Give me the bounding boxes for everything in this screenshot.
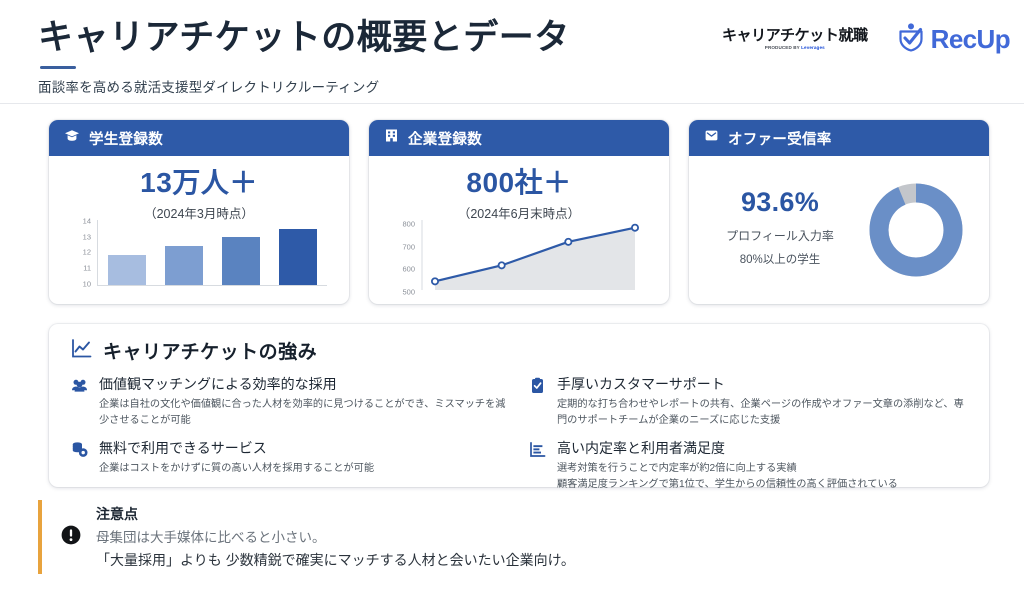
clipboard-check-icon	[529, 375, 546, 429]
bar	[165, 246, 203, 285]
stat-card-offer-rate: オファー受信率 93.6% プロフィール入力率 80%以上の学生	[689, 120, 989, 304]
caution-body: 注意点 母集団は大手媒体に比べると小さい。 「大量採用」よりも 少数精鋭で確実に…	[96, 504, 988, 570]
offer-rate-content: 93.6% プロフィール入力率 80%以上の学生	[689, 156, 989, 304]
strengths-panel: キャリアチケットの強み	[49, 324, 989, 487]
caution-line-2: 「大量採用」よりも 少数精鋭で確実にマッチする人材と会いたい企業向け。	[96, 550, 988, 570]
inbox-envelope-icon	[704, 128, 719, 148]
stat-card-body: 93.6% プロフィール入力率 80%以上の学生	[689, 156, 989, 304]
stat-card-body: 800社＋ （2024年6月末時点） 800 700 600 500	[369, 156, 669, 304]
strengths-columns: 価値観マッチングによる効率的な採用 企業は自社の文化や価値観に合った人材を効率的…	[71, 375, 967, 503]
y-tick: 12	[83, 249, 91, 257]
slide-header: キャリアチケットの概要とデータ 面談率を高める就活支援型ダイレクトリクルーティン…	[0, 0, 1024, 104]
y-tick: 14	[83, 217, 91, 225]
caution-callout: 注意点 母集団は大手媒体に比べると小さい。 「大量採用」よりも 少数精鋭で確実に…	[38, 500, 988, 574]
companies-line-chart: 800 700 600 500	[387, 218, 653, 298]
stat-card-row: 学生登録数 13万人＋ （2024年3月時点） 14 13 12 11 10	[49, 120, 989, 304]
strengths-title: キャリアチケットの強み	[103, 337, 317, 364]
careerticket-logo-producedby: PRODUCED BY Leverages	[765, 46, 825, 51]
page-title: キャリアチケットの概要とデータ	[38, 18, 570, 58]
stat-card-header: 学生登録数	[49, 120, 349, 156]
exclamation-circle-icon	[60, 524, 82, 551]
coins-money-icon	[71, 439, 88, 477]
stat-card-students: 学生登録数 13万人＋ （2024年3月時点） 14 13 12 11 10	[49, 120, 349, 304]
line-chart-point	[565, 239, 571, 245]
offer-rate-donut-chart	[857, 176, 975, 284]
strength-text: 高い内定率と利用者満足度 選考対策を行うことで内定率が約2倍に向上する実績 顧客…	[557, 439, 967, 493]
caution-line-1: 母集団は大手媒体に比べると小さい。	[96, 526, 988, 546]
page-subtitle: 面談率を高める就活支援型ダイレクトリクルーティング	[38, 76, 379, 96]
y-tick: 13	[83, 233, 91, 241]
strength-heading: 手厚いカスタマーサポート	[557, 375, 967, 393]
strength-heading: 高い内定率と利用者満足度	[557, 439, 967, 457]
strengths-column-right: 手厚いカスタマーサポート 定期的な打ち合わせやレポートの共有、企業ページの作成や…	[529, 375, 967, 503]
careerticket-logo-text: キャリアチケット就職	[722, 28, 868, 43]
y-tick: 500	[402, 288, 415, 296]
stat-card-label: 企業登録数	[408, 128, 482, 149]
strengths-column-left: 価値観マッチングによる効率的な採用 企業は自社の文化や価値観に合った人材を効率的…	[71, 375, 509, 503]
strength-detail: 企業はコストをかけずに質の高い人材を採用することが可能	[99, 461, 509, 477]
chart-line-icon	[71, 338, 92, 364]
bar-chart-plot	[97, 220, 327, 286]
stat-card-label: 学生登録数	[89, 128, 163, 149]
y-tick: 800	[402, 221, 415, 229]
bar-chart-y-axis: 14 13 12 11 10	[67, 218, 95, 296]
slide-root: キャリアチケットの概要とデータ 面談率を高める就活支援型ダイレクトリクルーティン…	[0, 0, 1024, 590]
stat-card-companies: 企業登録数 800社＋ （2024年6月末時点） 800 700 600 500	[369, 120, 669, 304]
strength-item: 手厚いカスタマーサポート 定期的な打ち合わせやレポートの共有、企業ページの作成や…	[529, 375, 967, 429]
header-divider	[0, 103, 1024, 104]
strength-item: 高い内定率と利用者満足度 選考対策を行うことで内定率が約2倍に向上する実績 顧客…	[529, 439, 967, 493]
strength-item: 無料で利用できるサービス 企業はコストをかけずに質の高い人材を採用することが可能	[71, 439, 509, 477]
line-chart-point	[432, 278, 438, 284]
strength-heading: 価値観マッチングによる効率的な採用	[99, 375, 509, 393]
stat-card-header: 企業登録数	[369, 120, 669, 156]
recup-logo-text: RecUp	[931, 24, 1010, 55]
y-tick: 10	[83, 280, 91, 288]
title-underline-rule	[40, 66, 76, 69]
y-tick: 11	[83, 264, 91, 272]
line-chart-plot	[421, 220, 647, 290]
stat-card-label: オファー受信率	[728, 128, 832, 149]
stat-value-students: 13万人＋	[49, 168, 349, 197]
stat-value-companies: 800社＋	[369, 168, 669, 197]
bar	[108, 255, 146, 285]
y-tick: 700	[402, 243, 415, 251]
building-icon	[384, 128, 399, 148]
caution-title: 注意点	[96, 504, 988, 524]
offer-rate-text-block: 93.6% プロフィール入力率 80%以上の学生	[703, 187, 857, 273]
recup-checkmark-icon	[896, 22, 926, 57]
bar	[222, 237, 260, 285]
stat-card-body: 13万人＋ （2024年3月時点） 14 13 12 11 10	[49, 156, 349, 304]
offer-rate-note-2: 80%以上の学生	[703, 251, 857, 267]
bar	[279, 229, 317, 285]
students-bar-chart: 14 13 12 11 10	[67, 218, 331, 296]
line-chart-point	[632, 225, 638, 231]
users-group-icon	[71, 375, 88, 429]
recup-logo: RecUp	[896, 22, 1010, 57]
strength-text: 価値観マッチングによる効率的な採用 企業は自社の文化や価値観に合った人材を効率的…	[99, 375, 509, 429]
y-tick: 600	[402, 265, 415, 273]
strength-detail: 企業は自社の文化や価値観に合った人材を効率的に見つけることができ、ミスマッチを減…	[99, 397, 509, 429]
line-chart-y-axis: 800 700 600 500	[387, 218, 419, 298]
bar-chart-icon	[529, 439, 546, 493]
offer-rate-note-1: プロフィール入力率	[703, 227, 857, 244]
stat-value-offer-rate: 93.6%	[703, 187, 857, 218]
strength-detail: 選考対策を行うことで内定率が約2倍に向上する実績 顧客満足度ランキングで第1位で…	[557, 461, 967, 493]
strength-heading: 無料で利用できるサービス	[99, 439, 509, 457]
strength-text: 手厚いカスタマーサポート 定期的な打ち合わせやレポートの共有、企業ページの作成や…	[557, 375, 967, 429]
line-chart-point	[499, 262, 505, 268]
stat-card-header: オファー受信率	[689, 120, 989, 156]
strength-text: 無料で利用できるサービス 企業はコストをかけずに質の高い人材を採用することが可能	[99, 439, 509, 477]
strength-item: 価値観マッチングによる効率的な採用 企業は自社の文化や価値観に合った人材を効率的…	[71, 375, 509, 429]
logo-group: キャリアチケット就職 PRODUCED BY Leverages RecUp	[722, 22, 1010, 57]
strengths-header: キャリアチケットの強み	[71, 337, 967, 364]
graduation-cap-icon	[64, 128, 80, 149]
strength-detail: 定期的な打ち合わせやレポートの共有、企業ページの作成やオファー文章の添削など、専…	[557, 397, 967, 429]
careerticket-logo: キャリアチケット就職 PRODUCED BY Leverages	[722, 28, 868, 51]
